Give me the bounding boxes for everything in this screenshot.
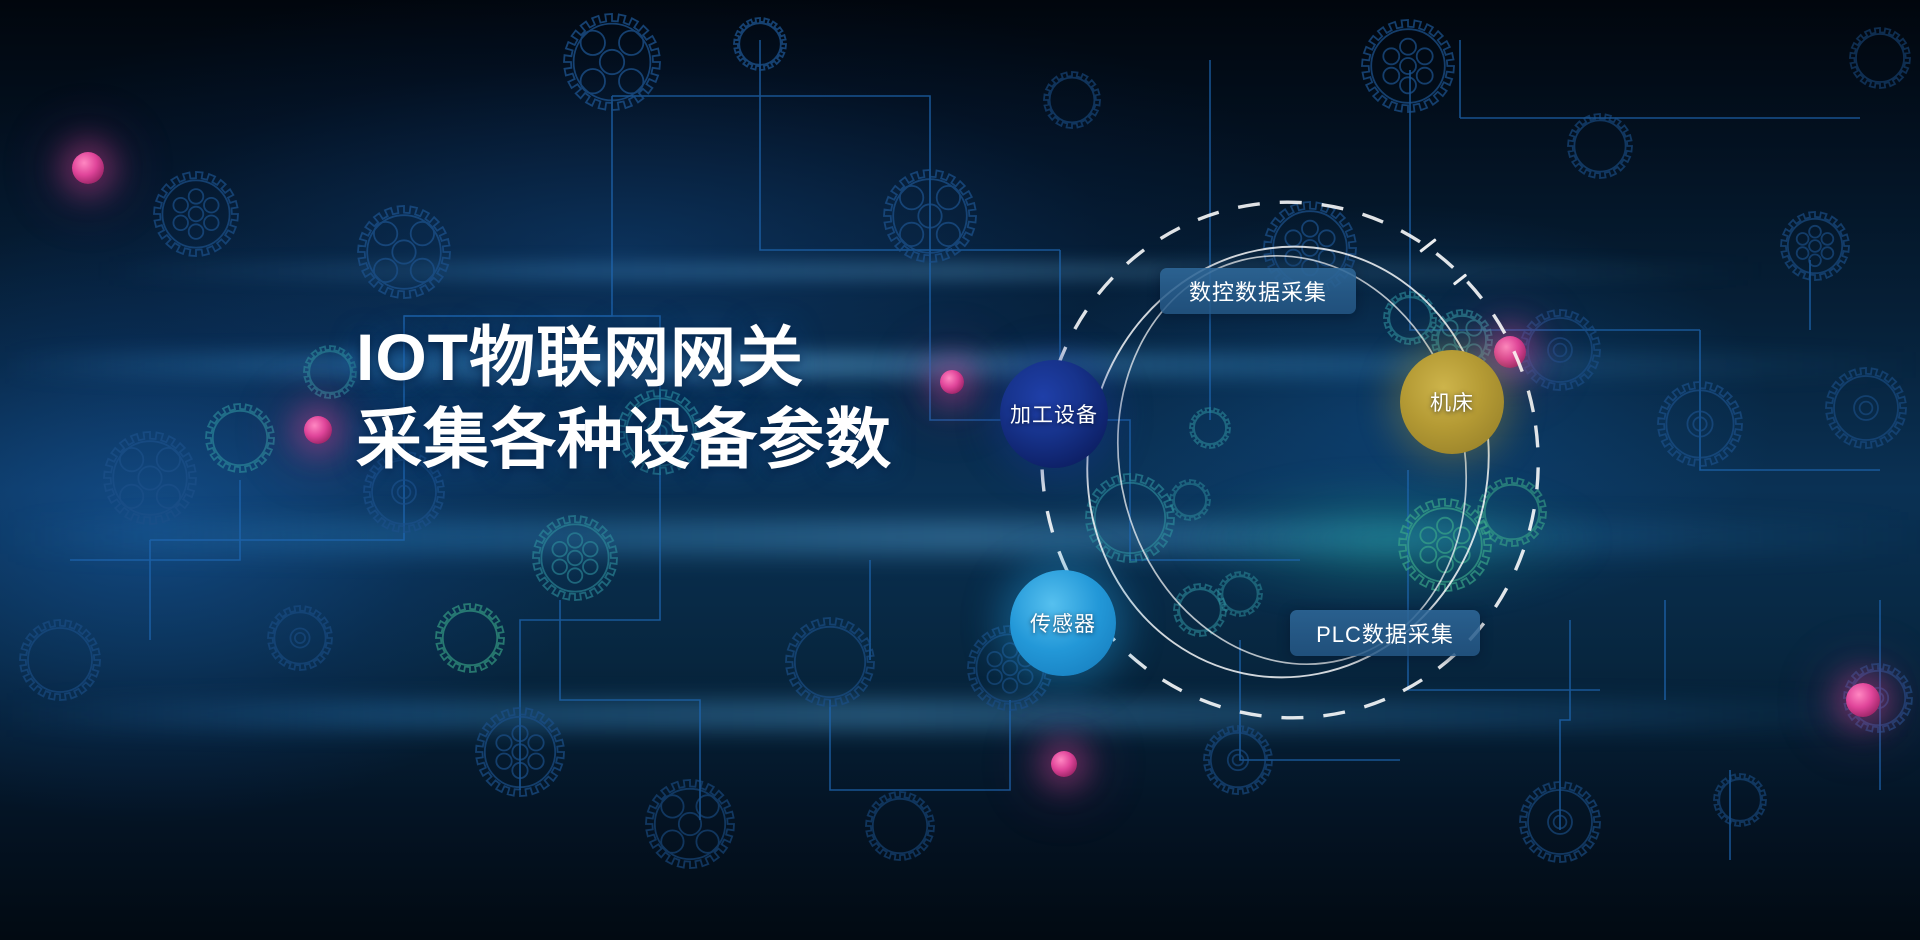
gear-icon (304, 346, 356, 398)
node-processing-equipment[interactable]: 加工设备 (1000, 360, 1108, 468)
orbit-rings (1000, 170, 1580, 770)
title-line-2: 采集各种设备参数 (356, 398, 996, 480)
badge-cnc-data-collection[interactable]: 数控数据采集 (1160, 268, 1356, 314)
node-machine-tool[interactable]: 机床 (1400, 350, 1504, 454)
gear-icon (1714, 774, 1766, 826)
gear-icon (154, 172, 238, 256)
iot-gateway-banner: IOT物联网网关 采集各种设备参数 加工设备 机床 传感器 数控数据采集 PLC… (0, 0, 1920, 940)
node-sensor[interactable]: 传感器 (1010, 570, 1116, 676)
title-line-1: IOT物联网网关 (356, 316, 996, 398)
gear-icon (866, 792, 934, 860)
gear-icon (206, 404, 274, 472)
gear-icon (104, 432, 196, 524)
badge-label: 数控数据采集 (1189, 275, 1327, 307)
gear-icon (20, 620, 100, 700)
iot-orbit-diagram: 加工设备 机床 传感器 数控数据采集 PLC数据采集 (1000, 170, 1580, 770)
node-label: 传感器 (1030, 608, 1096, 638)
gear-icon (1568, 114, 1632, 178)
gear-icon (1044, 72, 1100, 128)
page-title: IOT物联网网关 采集各种设备参数 (356, 316, 996, 480)
pink-node (72, 152, 104, 184)
node-label: 加工设备 (1010, 399, 1098, 429)
pink-node (1846, 683, 1880, 717)
gear-icon (1850, 28, 1910, 88)
gear-icon (358, 206, 450, 298)
badge-plc-data-collection[interactable]: PLC数据采集 (1290, 610, 1480, 656)
badge-label: PLC数据采集 (1316, 617, 1454, 649)
node-label: 机床 (1430, 387, 1474, 417)
gear-icon (646, 780, 734, 868)
gear-icon (1826, 368, 1906, 448)
pink-node (304, 416, 332, 444)
gear-icon (786, 618, 874, 706)
gear-icon (1781, 212, 1849, 280)
gear-icon (1362, 20, 1454, 112)
gear-icon (533, 516, 617, 600)
gear-icon (268, 606, 332, 670)
gear-icon (436, 604, 504, 672)
